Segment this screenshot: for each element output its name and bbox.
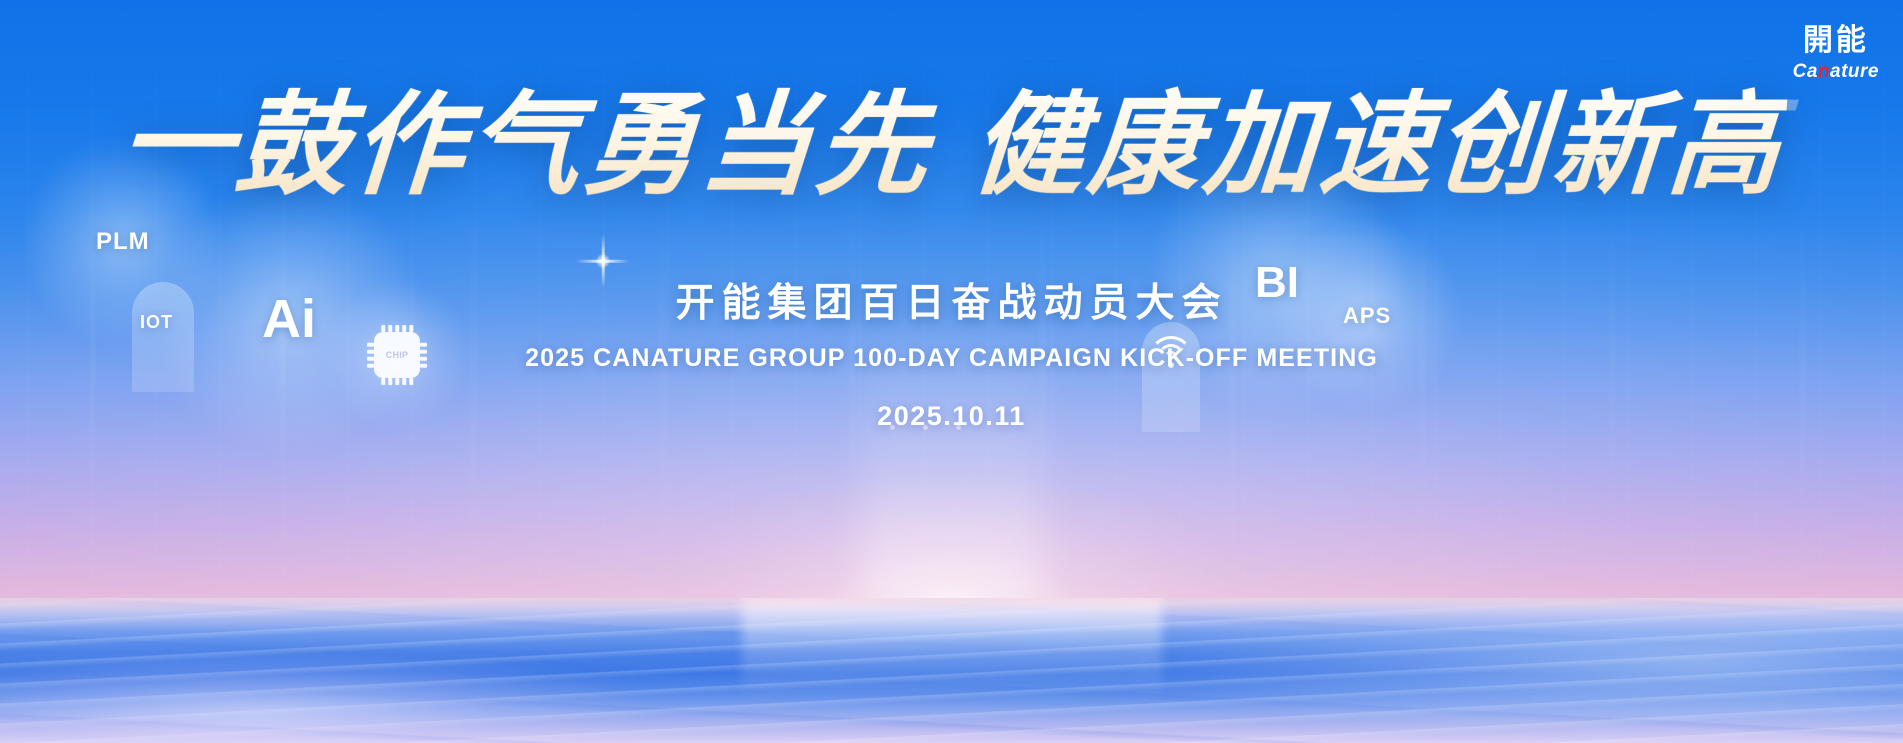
banner-canvas: 開能 Canature PLM IOT Ai CHIP [0, 0, 1903, 743]
logo-chinese-name: 開能 [1793, 26, 1879, 56]
logo-en-prefix: Ca [1793, 61, 1818, 82]
event-date: 2025.10.11 [0, 401, 1903, 432]
subtitle-block: 开能集团百日奋战动员大会 2025 CANATURE GROUP 100-DAY… [0, 272, 1903, 432]
water-horizon-haze [0, 598, 1903, 632]
tech-badge-plm: PLM [96, 228, 150, 256]
logo-en-accent: n [1818, 61, 1830, 82]
logo-english-name: Canature [1793, 62, 1879, 81]
water-surface [0, 598, 1903, 743]
tech-badge-plm-label: PLM [96, 228, 150, 256]
subtitle-english: 2025 CANATURE GROUP 100-DAY CAMPAIGN KIC… [0, 344, 1903, 373]
subtitle-chinese: 开能集团百日奋战动员大会 [0, 272, 1903, 328]
water-highlight-left [0, 653, 640, 743]
logo-en-suffix: ature [1830, 61, 1879, 82]
canature-logo: 開能 Canature [1793, 26, 1879, 81]
